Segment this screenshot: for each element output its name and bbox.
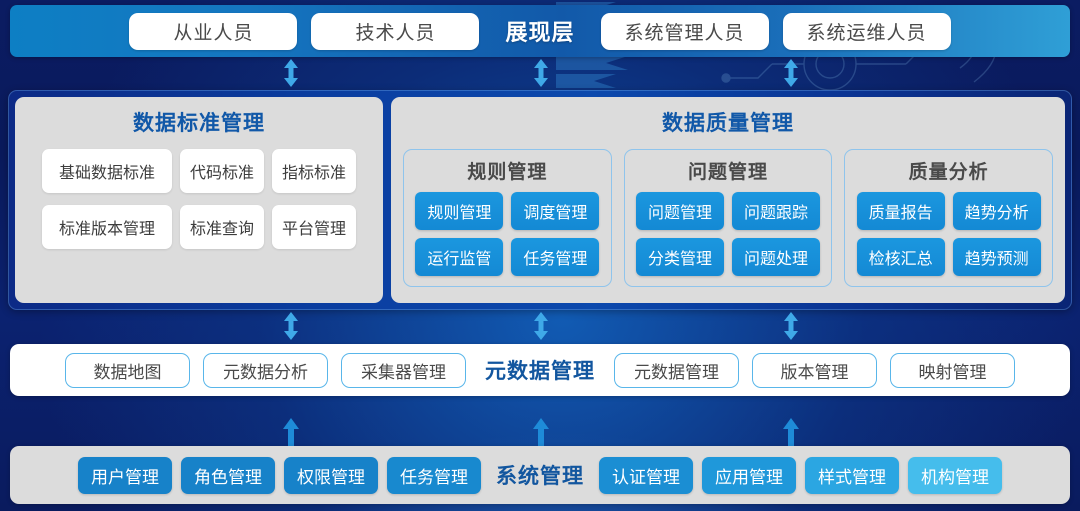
double-arrow-icon: [783, 312, 799, 340]
double-arrow-icon: [283, 312, 299, 340]
quality-subpanel-group: 规则管理 规则管理 调度管理 运行监管 任务管理 问题管理 问题管理 问题跟踪 …: [403, 149, 1053, 287]
connector-row-lower: [10, 418, 1070, 448]
rule-management-grid: 规则管理 调度管理 运行监管 任务管理: [415, 192, 599, 276]
double-arrow-icon: [533, 59, 549, 87]
up-arrow-icon: [282, 418, 300, 446]
issue-item[interactable]: 分类管理: [636, 238, 724, 276]
system-item[interactable]: 机构管理: [908, 457, 1002, 494]
system-item[interactable]: 应用管理: [702, 457, 796, 494]
standard-item[interactable]: 指标标准: [272, 149, 356, 193]
metadata-item[interactable]: 版本管理: [752, 353, 877, 388]
issue-item[interactable]: 问题跟踪: [732, 192, 820, 230]
standard-item[interactable]: 平台管理: [272, 205, 356, 249]
system-item[interactable]: 认证管理: [599, 457, 693, 494]
standard-item[interactable]: 基础数据标准: [42, 149, 172, 193]
issue-item[interactable]: 问题管理: [636, 192, 724, 230]
system-item[interactable]: 权限管理: [284, 457, 378, 494]
data-quality-panel-title: 数据质量管理: [662, 107, 794, 137]
quality-analysis-subpanel: 质量分析 质量报告 趋势分析 检核汇总 趋势预测: [844, 149, 1053, 287]
analysis-item[interactable]: 趋势分析: [953, 192, 1041, 230]
data-standard-item-grid: 基础数据标准 代码标准 指标标准 标准版本管理 标准查询 平台管理: [42, 149, 356, 249]
quality-analysis-grid: 质量报告 趋势分析 检核汇总 趋势预测: [857, 192, 1041, 276]
core-capability-board: 数据标准管理 基础数据标准 代码标准 指标标准 标准版本管理 标准查询 平台管理…: [8, 90, 1072, 310]
metadata-item[interactable]: 元数据管理: [614, 353, 739, 388]
data-quality-panel: 数据质量管理 规则管理 规则管理 调度管理 运行监管 任务管理 问题管理 问题管…: [391, 97, 1065, 303]
system-management-bar: 用户管理 角色管理 权限管理 任务管理 系统管理 认证管理 应用管理 样式管理 …: [10, 446, 1070, 504]
presentation-layer-bar: 从业人员 技术人员 展现层 系统管理人员 系统运维人员: [10, 5, 1070, 57]
standard-item[interactable]: 代码标准: [180, 149, 264, 193]
up-arrow-icon: [782, 418, 800, 446]
system-item[interactable]: 用户管理: [78, 457, 172, 494]
rule-item[interactable]: 调度管理: [511, 192, 599, 230]
issue-management-subpanel: 问题管理 问题管理 问题跟踪 分类管理 问题处理: [624, 149, 833, 287]
system-management-title: 系统管理: [490, 460, 590, 490]
rule-item[interactable]: 任务管理: [511, 238, 599, 276]
issue-management-title: 问题管理: [688, 157, 768, 184]
up-arrow-icon: [532, 418, 550, 446]
data-standard-panel-title: 数据标准管理: [133, 107, 265, 137]
rule-item[interactable]: 规则管理: [415, 192, 503, 230]
analysis-item[interactable]: 趋势预测: [953, 238, 1041, 276]
rule-management-subpanel: 规则管理 规则管理 调度管理 运行监管 任务管理: [403, 149, 612, 287]
metadata-layer-title: 元数据管理: [479, 355, 601, 385]
role-chip[interactable]: 技术人员: [311, 13, 479, 50]
rule-management-title: 规则管理: [467, 157, 547, 184]
double-arrow-icon: [533, 312, 549, 340]
metadata-item[interactable]: 采集器管理: [341, 353, 466, 388]
issue-management-grid: 问题管理 问题跟踪 分类管理 问题处理: [636, 192, 820, 276]
analysis-item[interactable]: 质量报告: [857, 192, 945, 230]
standard-item[interactable]: 标准版本管理: [42, 205, 172, 249]
system-item[interactable]: 样式管理: [805, 457, 899, 494]
connector-row-upper: [10, 59, 1070, 89]
quality-analysis-title: 质量分析: [909, 157, 989, 184]
data-standard-panel: 数据标准管理 基础数据标准 代码标准 指标标准 标准版本管理 标准查询 平台管理: [15, 97, 383, 303]
system-item[interactable]: 任务管理: [387, 457, 481, 494]
metadata-layer-bar: 数据地图 元数据分析 采集器管理 元数据管理 元数据管理 版本管理 映射管理: [10, 344, 1070, 396]
role-chip[interactable]: 系统运维人员: [783, 13, 951, 50]
metadata-item[interactable]: 映射管理: [890, 353, 1015, 388]
connector-row-middle: [10, 312, 1070, 342]
system-item[interactable]: 角色管理: [181, 457, 275, 494]
double-arrow-icon: [283, 59, 299, 87]
metadata-item[interactable]: 数据地图: [65, 353, 190, 388]
double-arrow-icon: [783, 59, 799, 87]
analysis-item[interactable]: 检核汇总: [857, 238, 945, 276]
metadata-item[interactable]: 元数据分析: [203, 353, 328, 388]
issue-item[interactable]: 问题处理: [732, 238, 820, 276]
architecture-diagram: 从业人员 技术人员 展现层 系统管理人员 系统运维人员 数据标准管理 基础数据标…: [0, 0, 1080, 511]
standard-item[interactable]: 标准查询: [180, 205, 264, 249]
presentation-layer-title: 展现层: [493, 15, 586, 47]
rule-item[interactable]: 运行监管: [415, 238, 503, 276]
role-chip[interactable]: 系统管理人员: [601, 13, 769, 50]
role-chip[interactable]: 从业人员: [129, 13, 297, 50]
